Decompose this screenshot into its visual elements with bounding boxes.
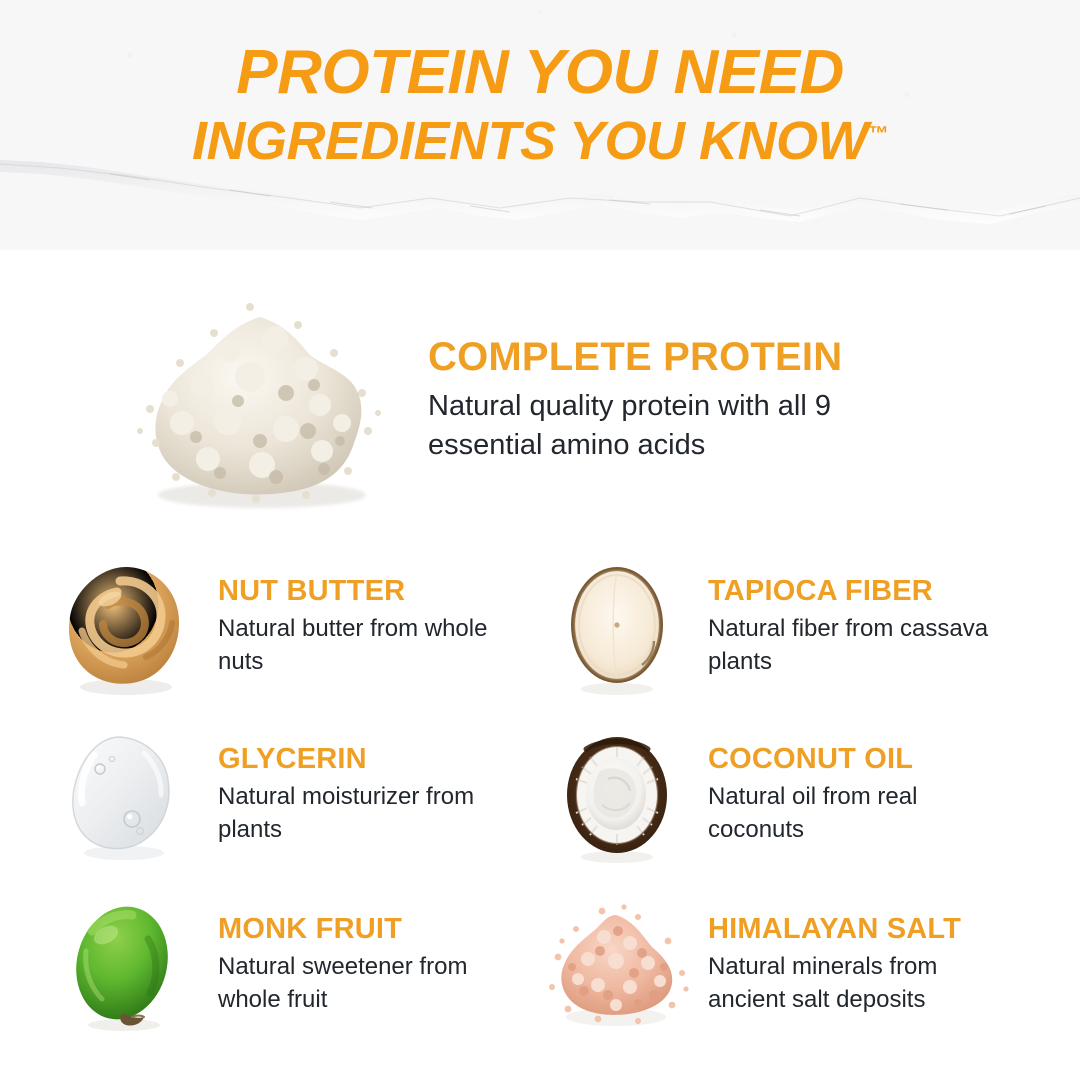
ingredient-description: Natural fiber from cassava plants bbox=[708, 613, 1008, 679]
hero-feature: COMPLETE PROTEIN Natural quality protein… bbox=[0, 278, 1080, 523]
ingredient-heading: MONK FRUIT bbox=[218, 914, 518, 944]
ingredient-heading: TAPIOCA FIBER bbox=[708, 576, 1008, 606]
headline-line-2: INGREDIENTS YOU KNOW™ bbox=[0, 114, 1080, 168]
ingredient-text-tapioca-fiber: TAPIOCA FIBER Natural fiber from cassava… bbox=[708, 576, 1008, 678]
hero-heading: COMPLETE PROTEIN bbox=[428, 336, 928, 378]
ingredient-item-glycerin: GLYCERIN Natural moisturizer from plants bbox=[48, 713, 548, 878]
ingredient-heading: HIMALAYAN SALT bbox=[708, 914, 1008, 944]
headline-line-1: PROTEIN YOU NEED bbox=[0, 42, 1080, 104]
nut-butter-swirl-image bbox=[48, 553, 206, 703]
ingredient-description: Natural moisturizer from plants bbox=[218, 781, 518, 847]
trademark-symbol: ™ bbox=[868, 123, 888, 145]
ingredient-grid: NUT BUTTER Natural butter from whole nut… bbox=[0, 545, 1080, 1065]
ingredient-item-monk-fruit: MONK FRUIT Natural sweetener from whole … bbox=[48, 883, 548, 1048]
ingredient-heading: COCONUT OIL bbox=[708, 744, 1008, 774]
ingredient-item-coconut-oil: COCONUT OIL Natural oil from real coconu… bbox=[538, 713, 1038, 878]
ingredient-text-monk-fruit: MONK FRUIT Natural sweetener from whole … bbox=[218, 914, 518, 1016]
ingredient-item-nut-butter: NUT BUTTER Natural butter from whole nut… bbox=[48, 545, 548, 710]
hero-description: Natural quality protein with all 9 essen… bbox=[428, 387, 928, 466]
glycerin-gel-drop-image bbox=[48, 721, 206, 871]
ingredient-text-coconut-oil: COCONUT OIL Natural oil from real coconu… bbox=[708, 744, 1008, 846]
monk-fruit-image bbox=[48, 891, 206, 1041]
ingredient-item-tapioca-fiber: TAPIOCA FIBER Natural fiber from cassava… bbox=[538, 545, 1038, 710]
headline: PROTEIN YOU NEED INGREDIENTS YOU KNOW™ bbox=[0, 42, 1080, 168]
protein-powder-pile-image bbox=[110, 281, 410, 521]
himalayan-salt-pile-image bbox=[538, 891, 696, 1041]
ingredient-heading: NUT BUTTER bbox=[218, 576, 518, 606]
ingredient-item-himalayan-salt: HIMALAYAN SALT Natural minerals from anc… bbox=[538, 883, 1038, 1048]
headline-line-2-text: INGREDIENTS YOU KNOW bbox=[192, 111, 868, 171]
tapioca-root-slice-image bbox=[538, 553, 696, 703]
hero-text-block: COMPLETE PROTEIN Natural quality protein… bbox=[428, 336, 928, 466]
ingredient-description: Natural oil from real coconuts bbox=[708, 781, 1008, 847]
ingredient-text-himalayan-salt: HIMALAYAN SALT Natural minerals from anc… bbox=[708, 914, 1008, 1016]
ingredient-text-glycerin: GLYCERIN Natural moisturizer from plants bbox=[218, 744, 518, 846]
ingredient-description: Natural minerals from ancient salt depos… bbox=[708, 951, 1008, 1017]
ingredient-text-nut-butter: NUT BUTTER Natural butter from whole nut… bbox=[218, 576, 518, 678]
ingredient-description: Natural sweetener from whole fruit bbox=[218, 951, 518, 1017]
ingredient-description: Natural butter from whole nuts bbox=[218, 613, 518, 679]
coconut-half-image bbox=[538, 721, 696, 871]
ingredient-heading: GLYCERIN bbox=[218, 744, 518, 774]
